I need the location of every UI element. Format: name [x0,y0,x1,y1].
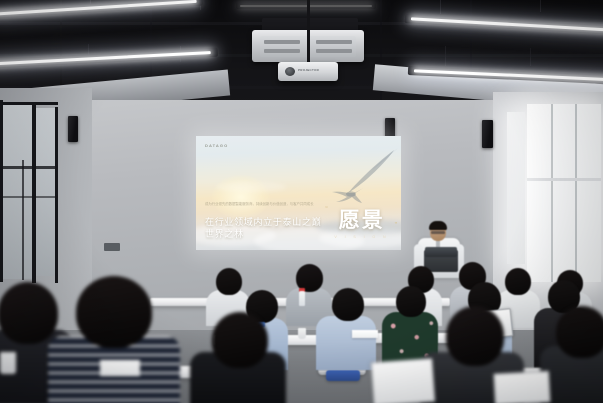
quote-open-mark: “ [325,206,327,213]
room-photo-scene: PROJECTOR [0,0,603,403]
notebook-middle [352,330,378,338]
person-head [0,282,58,344]
person-head [505,268,531,295]
window-right-far [507,112,525,264]
partition-mullion-horizontal-3 [0,196,58,198]
paper-front-left [100,360,140,376]
slide-content: DATAGO 成为行业领先的数据智能服务商，持续创新与价值创造，与客户共同成长 … [196,136,401,250]
quote-close-mark: ” [395,222,397,229]
presenter-laptop [425,247,457,257]
partition-mullion-horizontal-1 [0,102,58,105]
projection-screen: DATAGO 成为行业领先的数据智能服务商，持续创新与价值创造，与客户共同成长 … [196,136,401,250]
partition-mullion-vertical-3 [55,107,58,283]
window-right [527,104,601,282]
wall-speaker-left [68,116,78,142]
person-head [332,288,364,321]
laptop-screen [493,371,551,403]
laptop-front-far-right [493,371,551,403]
laptop-screen [371,358,436,403]
window-blind-slat [575,104,577,282]
slide-subtitle: 成为行业领先的数据智能服务商，持续创新与价值创造，与客户共同成长 [205,202,317,207]
wall-speaker-right [482,120,493,148]
person-head [76,276,152,348]
partition-mullion-horizontal-2 [0,166,58,169]
person-head [396,286,426,317]
person-torso [316,316,376,370]
projector-label: PROJECTOR [298,68,319,72]
chair-seat-middle-2 [326,370,360,381]
ceiling-light-fixture-5 [236,2,376,9]
presenter-hair [429,221,447,230]
paper-cup-front [0,352,16,374]
person-head [212,312,268,368]
slide-headline-line2: 世界之林 [205,228,244,241]
window-frame-horizontal [527,178,601,181]
water-bottle [299,291,305,306]
partition-mullion-vertical-1 [0,100,3,282]
eagle-graphic [324,148,401,204]
slide-vision-en: V I S I O N [334,235,389,239]
partition-mullion-vertical-2 [32,103,36,283]
person-head [556,306,603,358]
presenter-glasses-icon [431,231,445,234]
window-blind-slat [551,104,553,282]
wall-sign-plaque [104,243,120,251]
glass-partition-pane-2 [36,108,56,276]
slide-vision-block: “ 愿景 V I S I O N ” [334,204,389,239]
glass-partition-pane-1 [0,104,34,279]
person-head [446,306,504,366]
projector-mount-rod [307,0,310,62]
light-tube [240,5,372,7]
person-head [216,268,242,295]
laptop-front-right [371,358,436,403]
slide-logo: DATAGO [205,143,228,148]
slide-vision-cn: 愿景 [334,204,389,234]
projector-lens-icon [285,67,295,76]
partition-door-edge [22,160,24,280]
ceiling-projector: PROJECTOR [278,62,338,81]
paper-cup-middle [298,328,306,339]
